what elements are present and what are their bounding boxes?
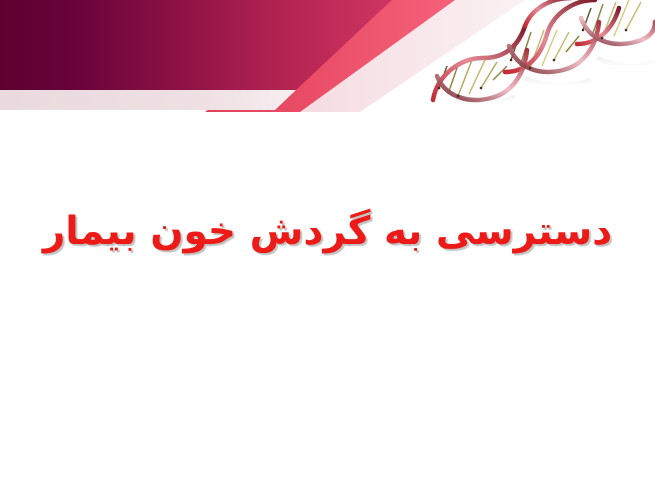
header-light-band (0, 90, 296, 110)
content-placeholder (0, 290, 655, 479)
decorative-header-band (0, 0, 655, 122)
page-title: دسترسی به گردش خون بیمار (43, 208, 612, 257)
presentation-slide: دسترسی به گردش خون بیمار (0, 0, 655, 479)
title-placeholder: دسترسی به گردش خون بیمار (0, 186, 655, 278)
